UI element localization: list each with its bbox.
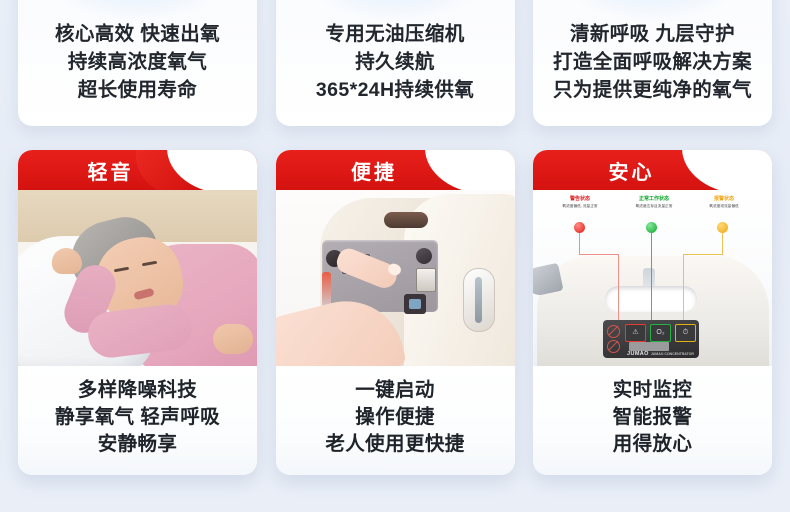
feature-line: 用得放心 (613, 431, 693, 458)
feature-line: 只为提供更纯净的氧气 (553, 76, 752, 104)
bottom-card-text: 一键启动 操作便捷 老人使用更快捷 (276, 366, 515, 475)
control-panel: ⚠ O₂ ⏱ JUMAO JUMAO CONCENTRATOR (603, 320, 699, 358)
feature-line: 专用无油压缩机 (316, 20, 474, 48)
feature-line: 超长使用寿命 (55, 76, 220, 104)
feature-line: 智能报警 (613, 404, 693, 431)
status-dot-green (646, 222, 657, 233)
ribbon-banner-reassuring: 安心 (533, 150, 772, 190)
leader-line-red (579, 254, 619, 255)
leader-line-amber (683, 254, 684, 324)
leader-line-green (651, 233, 652, 324)
feature-line: 老人使用更快捷 (325, 431, 464, 458)
bottom-card-text: 实时监控 智能报警 用得放心 (533, 366, 772, 475)
bottom-card-convenient[interactable]: 便捷 一键启动 操作便捷 (276, 150, 515, 475)
status-dot-red (574, 222, 585, 233)
feature-line: 安静畅享 (98, 431, 178, 458)
top-card-text: 清新呼吸 九层守护 打造全面呼吸解决方案 只为提供更纯净的氧气 (553, 20, 752, 104)
chip-icon-art (18, 0, 257, 12)
feature-line: 多样降噪科技 (78, 377, 197, 404)
ribbon-label: 便捷 (351, 156, 439, 185)
panel-button-o2: O₂ (650, 324, 671, 342)
feature-line: 一键启动 (355, 377, 435, 404)
top-card-core-efficiency[interactable]: 核心高效 快速出氧 持续高浓度氧气 超长使用寿命 (18, 0, 257, 126)
diagram-status-indicators: 警告状态 氧浓度偏低, 流量正常 正常工作状态 氧浓度达标且流量正常 报警状态 … (533, 190, 772, 366)
panel-display (629, 342, 669, 351)
top-feature-row: 核心高效 快速出氧 持续高浓度氧气 超长使用寿命 专用无油压缩机 持久续航 36… (0, 0, 790, 126)
bottom-card-quiet[interactable]: 轻音 多样降噪科技 静享氧气 轻声呼吸 安静 (18, 150, 257, 475)
leader-line-amber (683, 254, 723, 255)
feature-line: 365*24H持续供氧 (316, 76, 474, 104)
panel-button-timer: ⏱ (675, 324, 696, 342)
ribbon-banner-convenient: 便捷 (276, 150, 515, 190)
leader-line-red (579, 233, 580, 255)
bottom-card-text: 多样降噪科技 静享氧气 轻声呼吸 安静畅享 (18, 366, 257, 475)
indicator-label-alarm: 报警状态 氧浓度或流量偏低 (685, 196, 763, 209)
indicator-label-warning: 警告状态 氧浓度偏低, 流量正常 (541, 196, 619, 209)
leader-line-amber (722, 233, 723, 255)
brand-logo: JUMAO JUMAO CONCENTRATOR (627, 351, 694, 357)
panel-button-warning: ⚠ (625, 324, 646, 342)
bottom-feature-row: 轻音 多样降噪科技 静享氧气 轻声呼吸 安静 (0, 150, 790, 475)
top-card-fresh-breathing[interactable]: 清新呼吸 九层守护 打造全面呼吸解决方案 只为提供更纯净的氧气 (533, 0, 772, 126)
top-card-text: 专用无油压缩机 持久续航 365*24H持续供氧 (316, 20, 474, 104)
photo-elderly-woman-sleeping (18, 190, 257, 366)
no-smoking-icon (607, 325, 620, 338)
feature-line: 持久续航 (316, 48, 474, 76)
status-dot-amber (717, 222, 728, 233)
arrow-art (533, 0, 772, 12)
feature-line: 操作便捷 (355, 404, 435, 431)
feature-line: 静享氧气 轻声呼吸 (55, 404, 220, 431)
feature-line: 核心高效 快速出氧 (55, 20, 220, 48)
no-flame-icon (607, 340, 620, 353)
feature-line: 打造全面呼吸解决方案 (553, 48, 752, 76)
top-card-text: 核心高效 快速出氧 持续高浓度氧气 超长使用寿命 (55, 20, 220, 104)
top-card-oil-free-compressor[interactable]: 专用无油压缩机 持久续航 365*24H持续供氧 (276, 0, 515, 126)
indicator-label-normal: 正常工作状态 氧浓度达标且流量正常 (615, 196, 693, 209)
leader-line-red (618, 254, 619, 324)
product-feature-page: 核心高效 快速出氧 持续高浓度氧气 超长使用寿命 专用无油压缩机 持久续航 36… (0, 0, 790, 512)
ribbon-banner-quiet: 轻音 (18, 150, 257, 190)
ribbon-label: 安心 (609, 156, 697, 185)
feature-line: 清新呼吸 九层守护 (553, 20, 752, 48)
ribbon-label: 轻音 (88, 156, 188, 185)
feature-line: 持续高浓度氧气 (55, 48, 220, 76)
photo-hand-pressing-panel (276, 190, 515, 366)
bottom-card-reassuring[interactable]: 安心 警告状态 氧浓度偏低, 流量正常 正常工作状态 氧浓度达标且流量正常 报警… (533, 150, 772, 475)
feature-line: 实时监控 (613, 377, 693, 404)
